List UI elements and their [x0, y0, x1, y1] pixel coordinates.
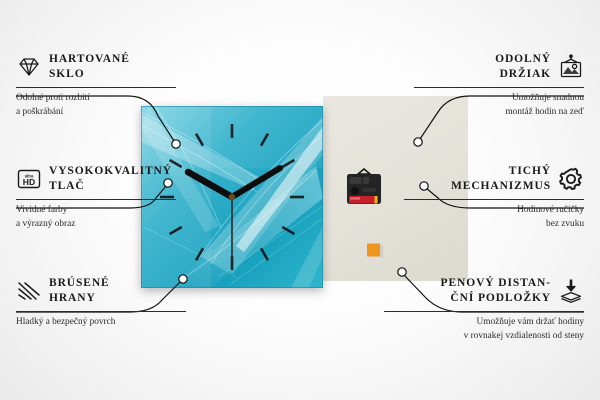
feature-title-line1: HARTOVANÉ: [49, 52, 130, 67]
diagonal-lines-icon: [16, 278, 42, 304]
feature-title-line1: ODOLNÝ: [495, 52, 551, 67]
foam-spacer-pad: [367, 243, 384, 260]
feature-desc-line1: Umožňuje snadnou: [414, 92, 584, 105]
feature-tempered-glass: HARTOVANÉ SKLO Odolné proti rozbití a po…: [16, 52, 176, 119]
feature-desc-line1: Hladký a bezpečný povrch: [16, 316, 186, 329]
feature-desc-line2: a výrazný obraz: [16, 218, 176, 231]
stacked-pads-icon: [558, 278, 584, 304]
feature-desc-line1: Odolné proti rozbití: [16, 92, 176, 105]
feature-title-line2: SKLO: [49, 67, 130, 82]
divider: [384, 311, 584, 312]
feature-title-line2: MECHANIZMUS: [451, 179, 551, 194]
feature-header: PENOVÝ DISTAN- ČNÍ PODLOŽKY: [384, 276, 584, 306]
feature-desc-line1: Hodinové ručičky: [404, 204, 584, 217]
feature-header: BRÚSENÉ HRANY: [16, 276, 186, 306]
feature-desc-line1: Umožňuje vám držať hodiny: [384, 316, 584, 329]
divider: [16, 199, 176, 200]
feature-header: ODOLNÝ DRŽIAK: [414, 52, 584, 82]
feature-header: TICHÝ MECHANIZMUS: [404, 164, 584, 194]
feature-desc-line2: bez zvuku: [404, 218, 584, 231]
feature-title-line1: VYSOKOKVALITNÝ: [49, 164, 172, 179]
feature-high-quality-print: ultra HD VYSOKOKVALITNÝ TLAČ Vividné far…: [16, 164, 176, 231]
feature-title-line2: DRŽIAK: [495, 67, 551, 82]
feature-foam-spacers: PENOVÝ DISTAN- ČNÍ PODLOŽKY Umožňuje vám…: [384, 276, 584, 343]
feature-polished-edges: BRÚSENÉ HRANY Hladký a bezpečný povrch: [16, 276, 186, 330]
feature-silent-mechanism: TICHÝ MECHANIZMUS Hodinové ručičky bez z…: [404, 164, 584, 231]
feature-title-line2: ČNÍ PODLOŽKY: [441, 291, 551, 306]
feature-desc-line1: Vividné farby: [16, 204, 176, 217]
feature-desc-line2: v rovnakej vzdialenosti od steny: [384, 330, 584, 343]
hd-label: HD: [23, 177, 35, 187]
feature-header: ultra HD VYSOKOKVALITNÝ TLAČ: [16, 164, 176, 194]
hanging-picture-icon: [558, 54, 584, 80]
feature-title-line1: BRÚSENÉ: [49, 276, 110, 291]
feature-header: HARTOVANÉ SKLO: [16, 52, 176, 82]
divider: [404, 199, 584, 200]
feature-title-line2: TLAČ: [49, 179, 172, 194]
feature-title-line2: HRANY: [49, 291, 110, 306]
gear-icon: [558, 166, 584, 192]
diamond-icon: [16, 54, 42, 80]
feature-desc-line2: a poškrábání: [16, 106, 176, 119]
feature-title-line1: PENOVÝ DISTAN-: [441, 276, 551, 291]
divider: [16, 87, 176, 88]
feature-durable-hanger: ODOLNÝ DRŽIAK Umožňuje snadnou montáž ho…: [414, 52, 584, 119]
clock-movement-mechanism: [343, 168, 385, 212]
infographic-stage: HARTOVANÉ SKLO Odolné proti rozbití a po…: [0, 0, 600, 400]
feature-title-line1: TICHÝ: [451, 164, 551, 179]
divider: [414, 87, 584, 88]
feature-desc-line2: montáž hodin na zeď: [414, 106, 584, 119]
divider: [16, 311, 186, 312]
ultra-hd-icon: ultra HD: [16, 166, 42, 192]
